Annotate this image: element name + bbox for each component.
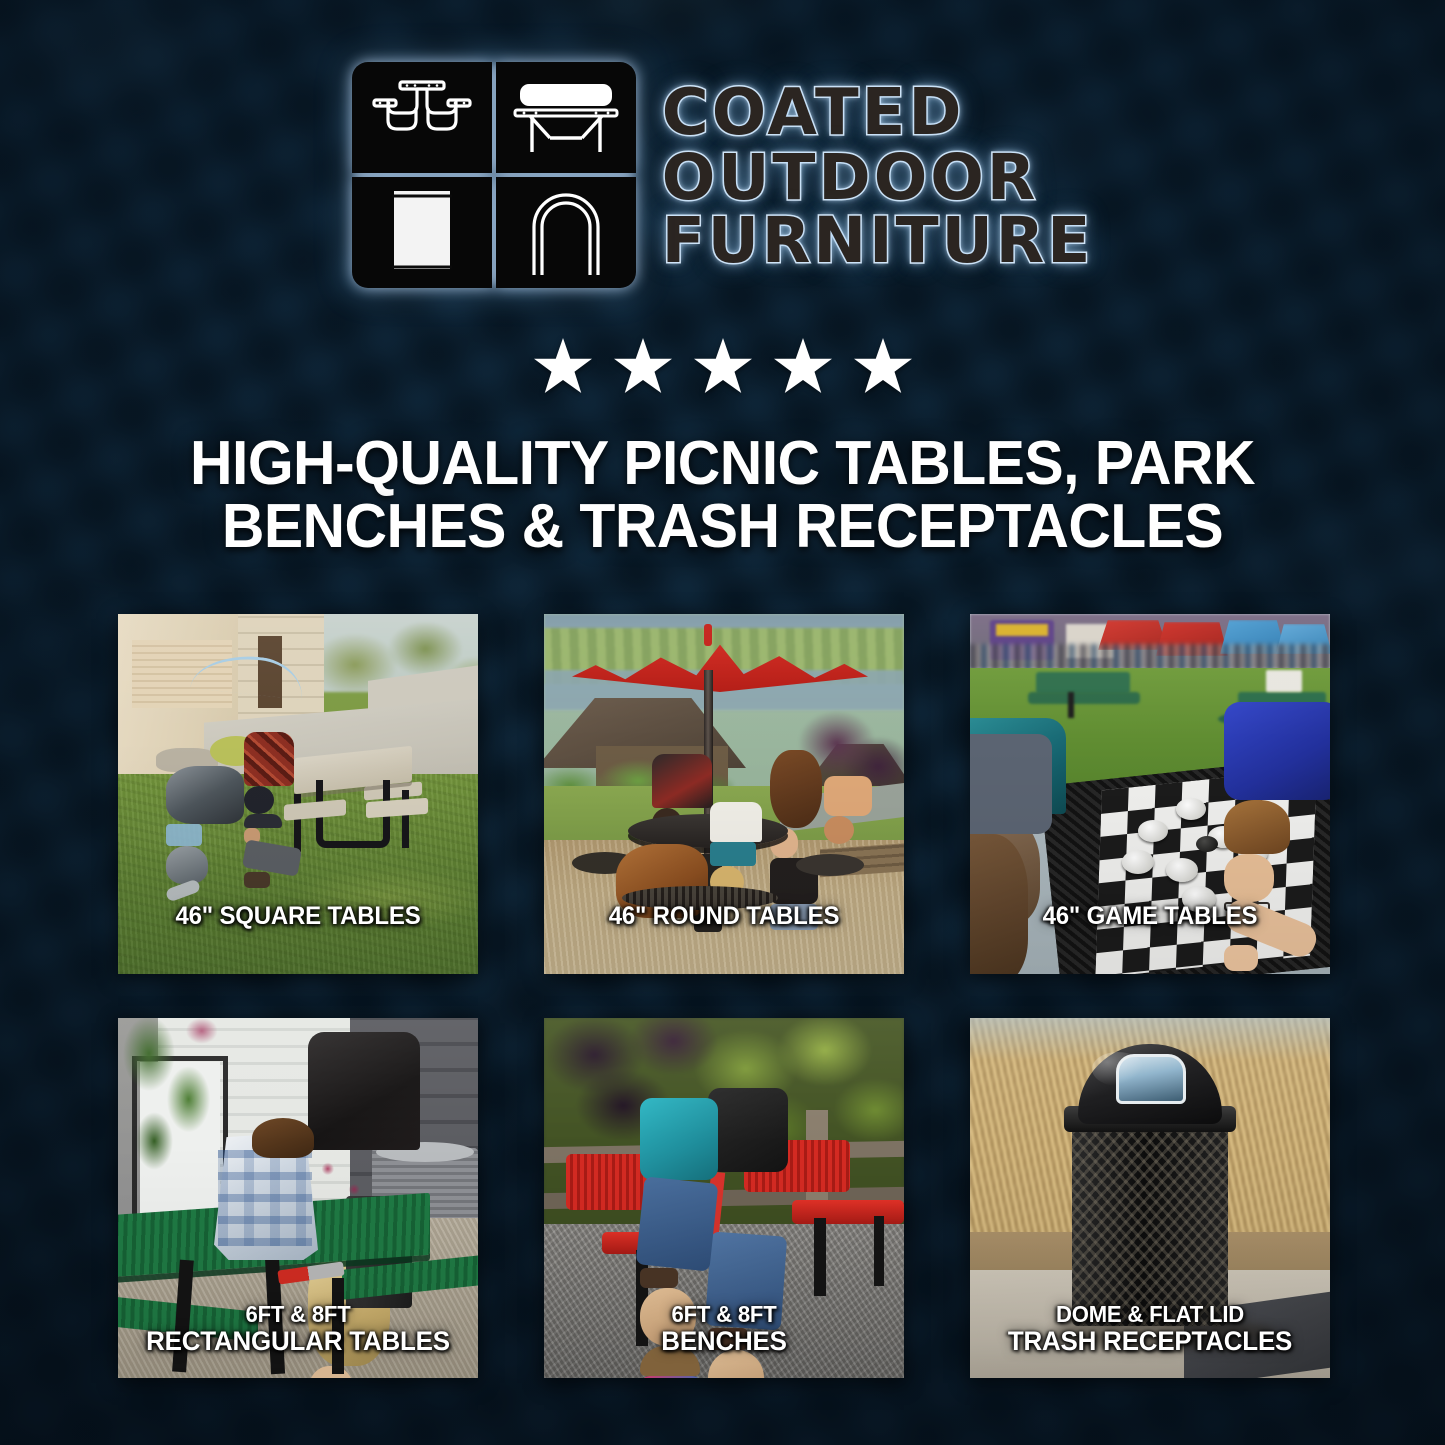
caption-line-2: RECTANGULAR TABLES [125,1327,471,1356]
product-card-benches[interactable]: 6FT & 8FT BENCHES [544,1018,904,1378]
headline-line-1: HIGH-QUALITY PICNIC TABLES, PARK [93,432,1352,495]
card-caption-rectangular-tables: 6FT & 8FT RECTANGULAR TABLES [125,1302,471,1356]
caption-line-1: 6FT & 8FT [551,1302,897,1327]
logo-tile-park-bench [496,62,636,173]
star-icon-4 [772,336,834,396]
card-caption-square-tables: 46" SQUARE TABLES [125,903,471,930]
card-caption-round-tables: 46" ROUND TABLES [551,903,897,930]
product-card-rectangular-tables[interactable]: 6FT & 8FT RECTANGULAR TABLES [118,1018,478,1378]
caption-line-2: TRASH RECEPTACLES [977,1327,1323,1356]
logo-tile-trash-receptacle [352,177,492,288]
product-card-game-tables[interactable]: 46" GAME TABLES [970,614,1330,974]
logo-tile-picnic-table [352,62,492,173]
product-card-round-tables[interactable]: 46" ROUND TABLES [544,614,904,974]
star-icon-3 [692,336,754,396]
bike-rack-arch-icon [526,187,606,279]
brand-wordmark: COATED OUTDOOR FURNITURE [662,78,1094,272]
trash-receptacle-icon [388,187,456,279]
star-rating [0,336,1445,396]
star-icon-5 [852,336,914,396]
card-caption-benches: 6FT & 8FT BENCHES [551,1302,897,1356]
promo-banner: COATED OUTDOOR FURNITURE HIGH-QUALITY PI… [0,0,1445,1445]
star-icon-2 [612,336,674,396]
caption-line-1: DOME & FLAT LID [977,1302,1323,1327]
product-card-square-tables[interactable]: 46" SQUARE TABLES [118,614,478,974]
logo-tile-bike-rack [496,177,636,288]
picnic-table-icon [370,76,474,160]
headline: HIGH-QUALITY PICNIC TABLES, PARK BENCHES… [93,432,1352,558]
headline-line-2: BENCHES & TRASH RECEPTACLES [93,495,1352,558]
caption-line-2: BENCHES [551,1327,897,1356]
park-bench-icon [512,78,620,158]
brand-header: COATED OUTDOOR FURNITURE [0,62,1445,288]
wordmark-line-3: FURNITURE [662,210,1094,272]
wordmark-line-1: COATED [662,82,1094,145]
star-icon-1 [532,336,594,396]
caption-line-1: 6FT & 8FT [125,1302,471,1327]
wordmark-line-2: OUTDOOR [662,147,1094,209]
product-card-trash-receptacles[interactable]: DOME & FLAT LID TRASH RECEPTACLES [970,1018,1330,1378]
product-card-grid: 46" SQUARE TABLES [118,614,1330,1378]
brand-logo [352,62,636,288]
card-caption-trash-receptacles: DOME & FLAT LID TRASH RECEPTACLES [977,1302,1323,1356]
card-caption-game-tables: 46" GAME TABLES [977,903,1323,930]
